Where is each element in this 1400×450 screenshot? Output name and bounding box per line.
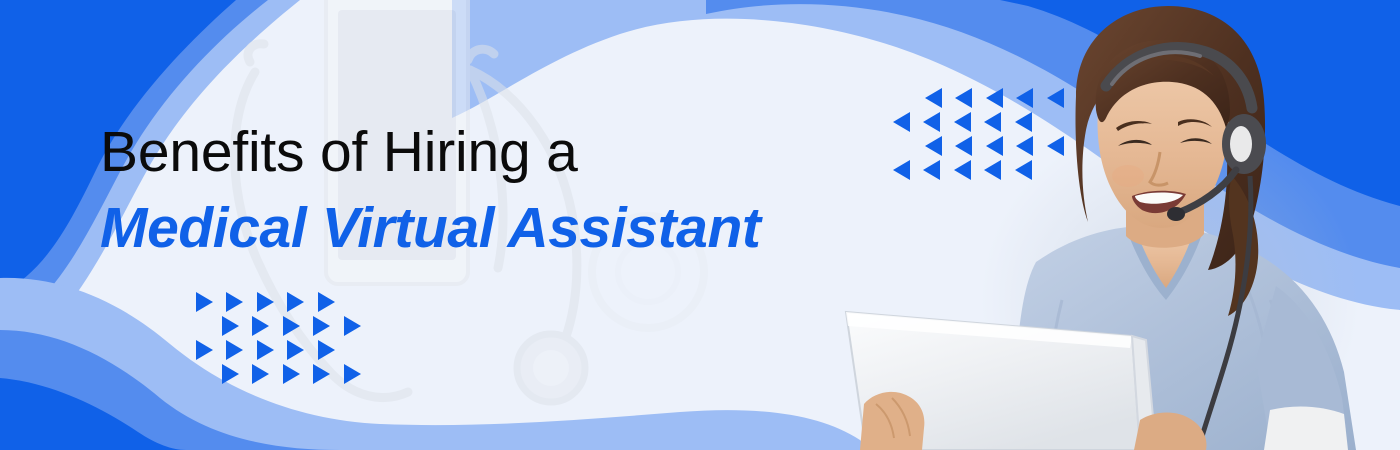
neck: [1126, 178, 1204, 248]
banner: Benefits of Hiring a Medical Virtual Ass…: [0, 0, 1400, 450]
eye-right: [1180, 138, 1212, 144]
headset-band: [1106, 47, 1252, 108]
eyebrow-left: [1116, 121, 1152, 131]
triangle-right-icon: [287, 340, 304, 360]
scrubs-fold: [1044, 300, 1062, 432]
headset-earcup: [1222, 114, 1266, 174]
triangle-right-icon: [313, 316, 330, 336]
laptop-lid-edge: [846, 312, 1132, 348]
triangle-right-icon: [344, 364, 361, 384]
triangle-left-icon: [986, 88, 1003, 108]
teeth: [1135, 192, 1183, 203]
triangle-right-icon: [252, 316, 269, 336]
triangle-left-icon: [955, 88, 972, 108]
triangle-row: [196, 340, 370, 364]
triangle-right-icon: [196, 340, 213, 360]
scrubs-torso: [1008, 226, 1356, 450]
triangle-row: [893, 160, 1073, 184]
headset-cable: [1198, 176, 1251, 450]
triangle-left-icon: [1047, 136, 1064, 156]
triangle-right-icon: [252, 364, 269, 384]
scrubs-fold: [1244, 280, 1274, 412]
wave-bottom-left-light: [0, 278, 868, 450]
triangle-left-icon: [1016, 136, 1033, 156]
triangle-left-icon: [893, 160, 910, 180]
triangle-left-icon: [954, 112, 971, 132]
laptop-lid: [846, 312, 1140, 450]
triangle-left-icon: [893, 112, 910, 132]
laptop-base: [1132, 336, 1156, 450]
triangle-right-icon: [344, 316, 361, 336]
headline-line-2: Medical Virtual Assistant: [100, 194, 760, 262]
scrubs-v-neck-inner: [1136, 224, 1194, 288]
headline-line-1: Benefits of Hiring a: [100, 116, 760, 188]
triangle-row: [222, 316, 370, 340]
triangle-left-icon: [955, 136, 972, 156]
headset-band-highlight: [1112, 52, 1200, 84]
triangle-left-icon: [923, 160, 940, 180]
finger-line: [892, 398, 910, 436]
triangle-cluster-bottom-left: [196, 292, 370, 388]
eyebrow-right: [1178, 119, 1212, 127]
wave-bottom-left-dark: [0, 378, 186, 450]
triangle-row: [925, 88, 1073, 112]
triangle-right-icon: [283, 316, 300, 336]
triangle-left-icon: [923, 112, 940, 132]
triangle-left-icon: [986, 136, 1003, 156]
triangle-left-icon: [984, 160, 1001, 180]
triangle-right-icon: [318, 340, 335, 360]
triangle-row: [893, 112, 1073, 136]
finger-line: [876, 404, 894, 438]
triangle-right-icon: [222, 316, 239, 336]
triangle-row: [222, 364, 370, 388]
assistant-photo: [840, 0, 1400, 450]
triangle-right-icon: [313, 364, 330, 384]
headset-mic-boom: [1180, 170, 1236, 212]
triangle-left-icon: [954, 160, 971, 180]
stethoscope-earpiece-right: [468, 49, 494, 60]
hair-strand: [1140, 55, 1214, 76]
triangle-right-icon: [283, 364, 300, 384]
triangle-right-icon: [196, 292, 213, 312]
triangle-right-icon: [226, 292, 243, 312]
laptop: [846, 312, 1156, 450]
triangle-left-icon: [1016, 88, 1033, 108]
triangle-left-icon: [984, 112, 1001, 132]
headset-mic-tip: [1167, 207, 1185, 221]
scrubs-v-neck: [1126, 219, 1204, 300]
triangle-left-icon: [1015, 112, 1032, 132]
triangle-right-icon: [287, 292, 304, 312]
headset-earcup-pad: [1230, 126, 1252, 162]
triangle-left-icon: [925, 88, 942, 108]
triangle-right-icon: [257, 292, 274, 312]
triangle-row: [196, 292, 370, 316]
hair-back: [1076, 6, 1266, 270]
hand-left: [860, 392, 924, 450]
headline-block: Benefits of Hiring a Medical Virtual Ass…: [100, 116, 760, 262]
cheek-highlight: [1112, 165, 1144, 187]
triangle-left-icon: [925, 136, 942, 156]
triangle-right-icon: [318, 292, 335, 312]
triangle-row: [925, 136, 1073, 160]
undershirt-cuff: [1264, 407, 1348, 450]
scrubs-fold: [1270, 300, 1306, 430]
face: [1098, 46, 1229, 228]
scrubs-sleeve: [1256, 286, 1346, 444]
stethoscope-earpiece-left: [248, 44, 264, 62]
triangle-right-icon: [257, 340, 274, 360]
triangle-cluster-top-right: [893, 88, 1073, 184]
triangle-left-icon: [1015, 160, 1032, 180]
mouth: [1132, 191, 1186, 213]
nose: [1150, 152, 1168, 185]
stethoscope-chestpiece-inner: [533, 350, 569, 386]
hair-front: [1096, 40, 1230, 128]
triangle-right-icon: [222, 364, 239, 384]
eye-left: [1118, 140, 1152, 146]
ponytail: [1228, 176, 1258, 316]
triangle-right-icon: [226, 340, 243, 360]
triangle-left-icon: [1047, 88, 1064, 108]
stethoscope-chestpiece: [517, 334, 585, 402]
hand-right: [1134, 413, 1206, 450]
